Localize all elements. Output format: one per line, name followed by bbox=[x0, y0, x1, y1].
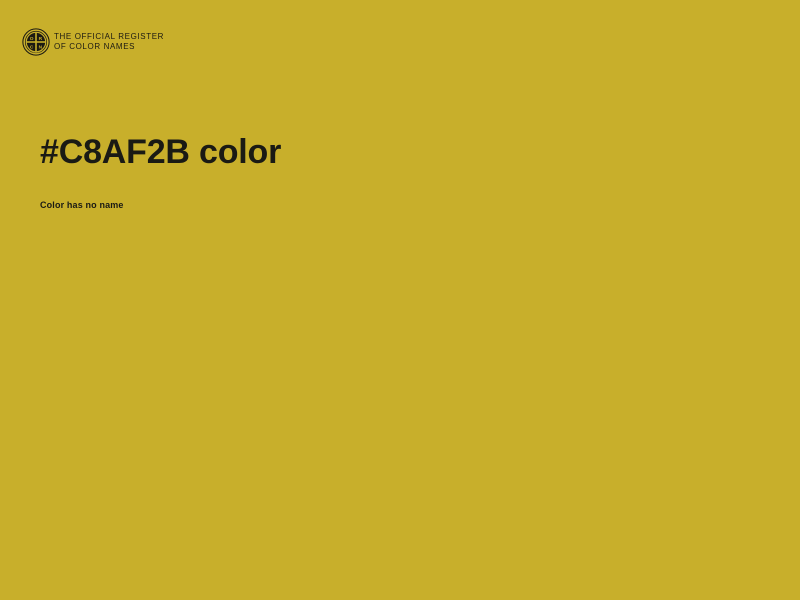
svg-text:O: O bbox=[30, 36, 34, 42]
register-seal-icon: O R C N bbox=[22, 28, 50, 56]
page-title: #C8AF2B color bbox=[40, 132, 281, 172]
color-swatch-page: O R C N THE OFFICIAL REGISTER OF COLOR N… bbox=[0, 0, 800, 600]
brand-wordmark-line-2: OF COLOR NAMES bbox=[54, 42, 164, 52]
svg-text:R: R bbox=[39, 36, 43, 42]
brand-wordmark: THE OFFICIAL REGISTER OF COLOR NAMES bbox=[54, 32, 164, 52]
svg-text:N: N bbox=[39, 45, 43, 51]
brand-wordmark-line-1: THE OFFICIAL REGISTER bbox=[54, 32, 164, 42]
color-name-status: Color has no name bbox=[40, 199, 124, 211]
svg-text:C: C bbox=[30, 45, 34, 51]
brand-header[interactable]: O R C N THE OFFICIAL REGISTER OF COLOR N… bbox=[22, 28, 164, 56]
